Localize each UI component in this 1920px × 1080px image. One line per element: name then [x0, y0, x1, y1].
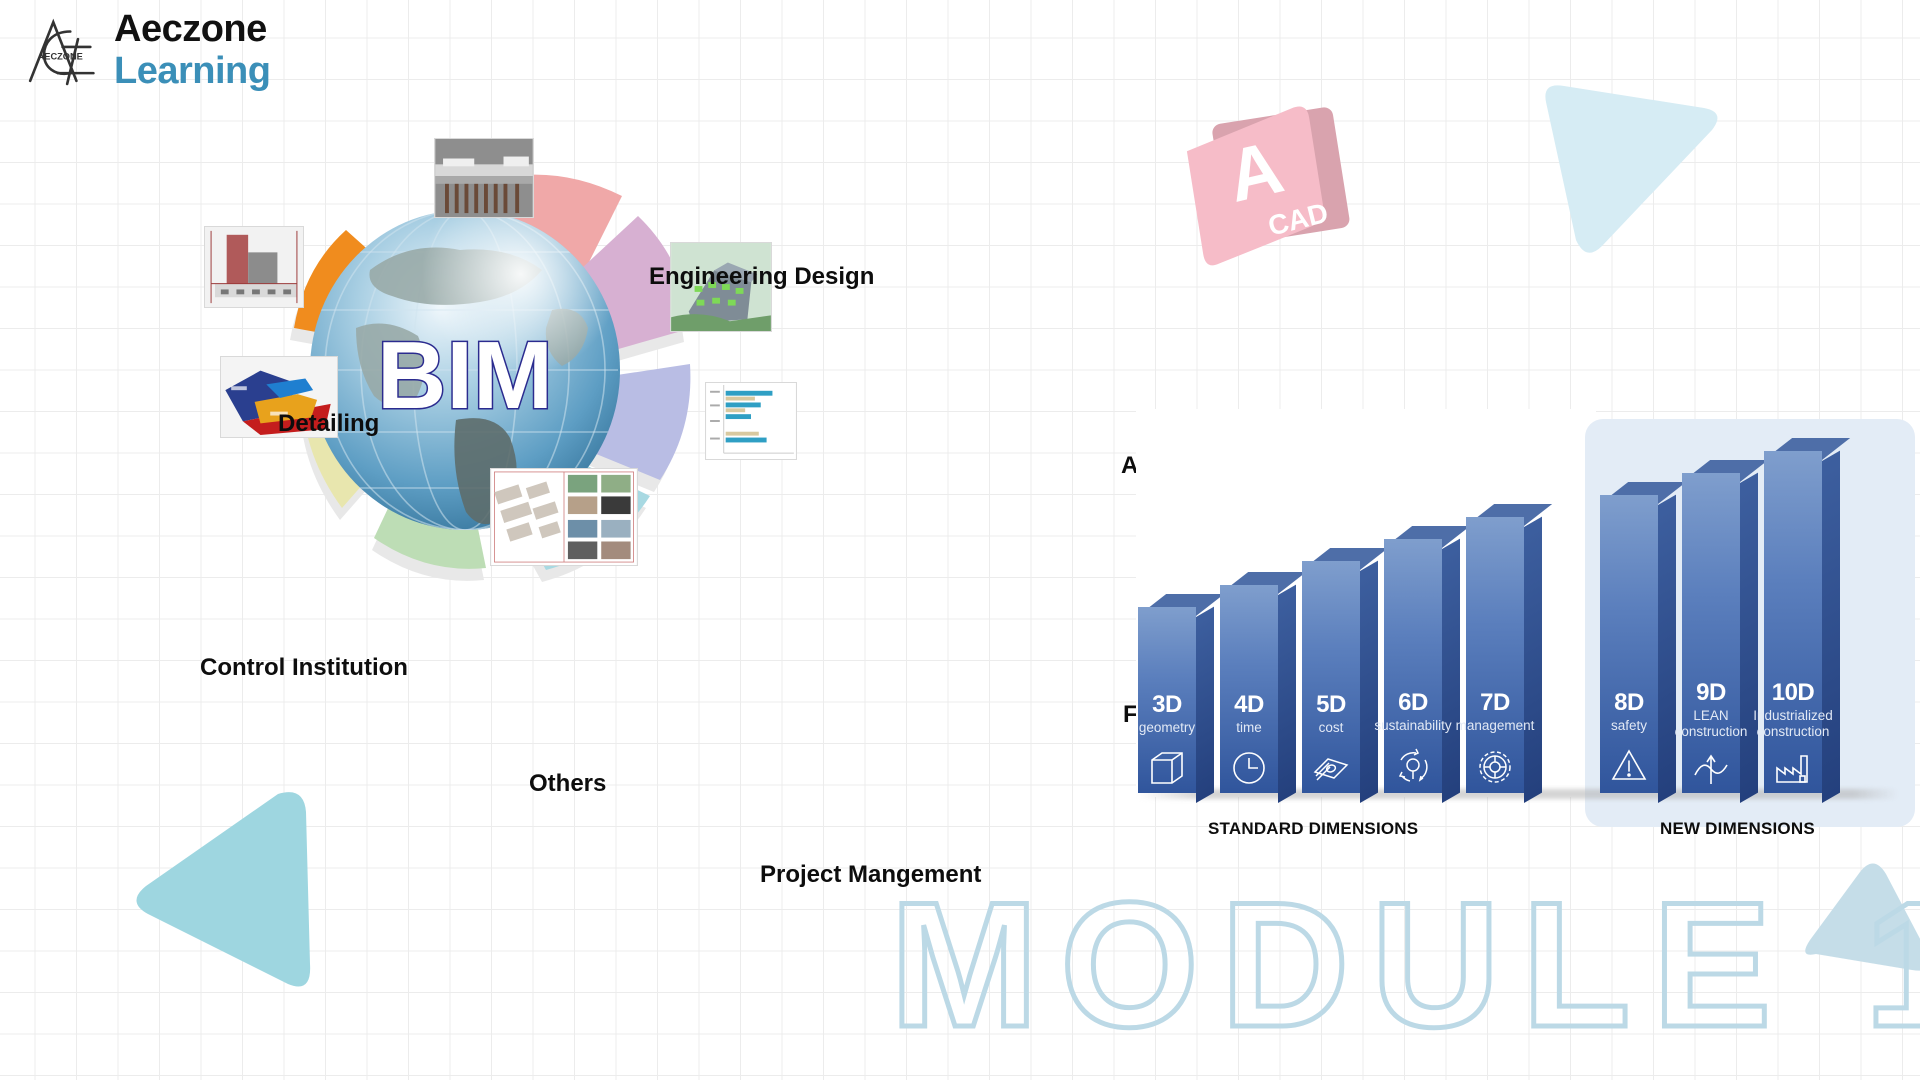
bim-label-detailing: Detailing: [278, 410, 379, 438]
project-documents-sheet-thumb: [490, 468, 638, 566]
bar-9d-sublabel: LEAN construction: [1675, 708, 1748, 739]
bar-8d[interactable]: 8D safety: [1600, 495, 1658, 793]
bar-8d-sublabel: safety: [1611, 718, 1647, 734]
brand-logo[interactable]: AECZONE Aeczone Learning: [22, 10, 270, 90]
bim-label-others: Others: [529, 770, 606, 798]
autocad-logo-icon: A CAD: [1168, 82, 1367, 272]
bar-3d-side: [1196, 607, 1214, 803]
new-dimensions-label: NEW DIMENSIONS: [1660, 819, 1815, 839]
bar-6d-face: 6D sustainability: [1384, 539, 1442, 793]
bar-6d-dimension: 6D: [1398, 689, 1428, 717]
fabrication-bar-chart-thumb: [705, 382, 797, 460]
bim-center-label: BIM: [377, 322, 553, 429]
bar-6d-side: [1442, 539, 1460, 803]
bar-10d[interactable]: 10D Industrialized construction: [1764, 451, 1822, 793]
bar-5d-dimension: 5D: [1316, 691, 1346, 719]
bar-7d-face: 7D management: [1466, 517, 1524, 793]
bridge-structure-model-thumb: [434, 138, 534, 218]
bar-10d-dimension: 10D: [1772, 679, 1815, 707]
brand-name: Aeczone: [114, 10, 270, 48]
bar-7d[interactable]: 7D management: [1466, 517, 1524, 793]
bar-4d-face: 4D time: [1220, 585, 1278, 793]
module-title: MODULE 1: [890, 876, 1920, 1054]
bar-8d-face: 8D safety: [1600, 495, 1658, 793]
standard-dimensions-label: STANDARD DIMENSIONS: [1208, 819, 1418, 839]
lean-flow-icon: [1692, 753, 1730, 787]
recycle-tree-icon: [1394, 748, 1432, 786]
bar-3d-dimension: 3D: [1152, 691, 1182, 719]
bim-dimensions-chart: 3D geometry 4D time 5D c: [1130, 405, 1920, 855]
bar-5d-sublabel: cost: [1319, 720, 1344, 736]
bar-4d-sublabel: time: [1236, 720, 1262, 736]
triangle-bottom-left-icon: [128, 782, 350, 1000]
bar-10d-sublabel: Industrialized construction: [1753, 708, 1833, 739]
bar-10d-side: [1822, 451, 1840, 803]
warning-triangle-icon: [1610, 748, 1648, 782]
triangle-top-right-icon: [1528, 60, 1728, 260]
bar-7d-sublabel: management: [1456, 718, 1535, 734]
bar-8d-side: [1658, 495, 1676, 803]
bar-3d[interactable]: 3D geometry: [1138, 607, 1196, 793]
bar-6d-sublabel: sustainability: [1374, 718, 1451, 734]
bar-3d-face: 3D geometry: [1138, 607, 1196, 793]
money-stack-icon: [1312, 750, 1350, 784]
wireframe-cube-icon: [1149, 750, 1185, 786]
bar-8d-dimension: 8D: [1614, 689, 1644, 717]
bar-4d-dimension: 4D: [1234, 691, 1264, 719]
bar-5d[interactable]: 5D cost: [1302, 561, 1360, 793]
gear-cog-icon: [1476, 748, 1514, 786]
factory-icon: [1774, 753, 1812, 785]
bar-5d-side: [1360, 561, 1378, 803]
logo-inner-text: AECZONE: [38, 51, 83, 61]
bim-label-engineering-design: Engineering Design: [649, 263, 874, 291]
bar-4d[interactable]: 4D time: [1220, 585, 1278, 793]
detailing-facade-drawing-thumb: [204, 226, 304, 308]
bar-3d-sublabel: geometry: [1139, 720, 1195, 736]
aeczone-monogram-icon: AECZONE: [22, 13, 100, 87]
bar-5d-face: 5D cost: [1302, 561, 1360, 793]
bar-9d-dimension: 9D: [1696, 679, 1726, 707]
bar-7d-side: [1524, 517, 1542, 803]
bar-7d-dimension: 7D: [1480, 689, 1510, 717]
bim-wheel-diagram: BIM: [160, 120, 980, 700]
bar-10d-face: 10D Industrialized construction: [1764, 451, 1822, 793]
bim-label-control-institution: Control Institution: [200, 654, 408, 682]
bar-4d-side: [1278, 585, 1296, 803]
bar-9d[interactable]: 9D LEAN construction: [1682, 473, 1740, 793]
brand-subtitle: Learning: [114, 52, 270, 90]
bar-9d-side: [1740, 473, 1758, 803]
clock-icon: [1231, 750, 1267, 786]
bar-9d-face: 9D LEAN construction: [1682, 473, 1740, 793]
bar-6d[interactable]: 6D sustainability: [1384, 539, 1442, 793]
